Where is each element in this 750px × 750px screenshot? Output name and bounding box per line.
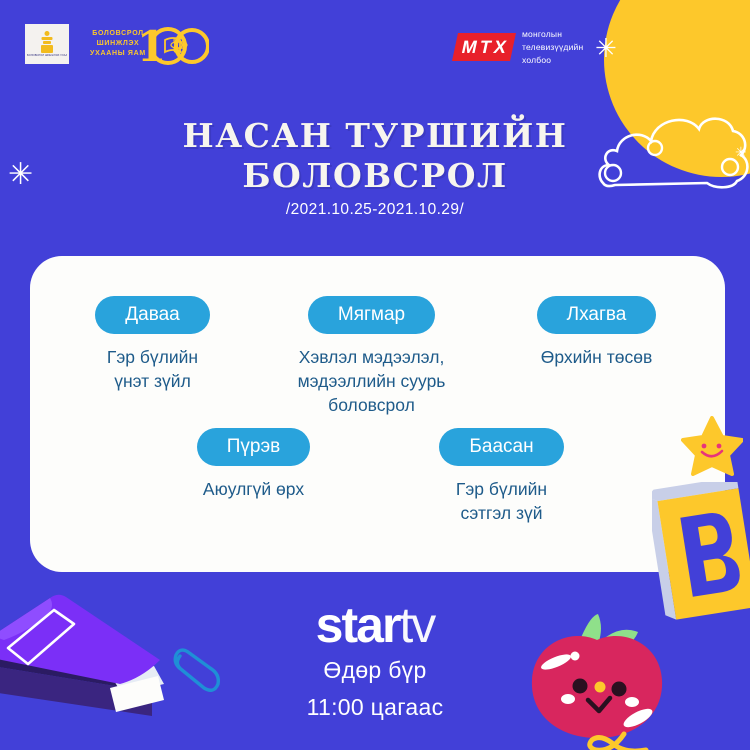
day-chip[interactable]: Пүрэв — [197, 428, 311, 466]
day-chip[interactable]: Баасан — [439, 428, 563, 466]
title-date-range: /2021.10.25-2021.10.29/ — [0, 201, 750, 219]
ministry-emblem-icon: БОЛОВСРОЛ ШИНЖЛЭХ УХААНЫ — [25, 24, 69, 64]
mtx-letter-x: Х — [492, 38, 508, 56]
emblem-caption: БОЛОВСРОЛ ШИНЖЛЭХ УХААНЫ — [27, 54, 67, 57]
footer-daily-label: Өдөр бүр — [0, 654, 750, 687]
schedule-card: Даваа Гэр бүлийнүнэт зүйл Мягмар Хэвлэл … — [30, 256, 725, 572]
smiling-star-icon — [681, 416, 743, 476]
poster-canvas: ✳ ✳ ✳ ✳ БОЛОВСРОЛ ШИНЖЛЭХ УХААНЫ БОЛОВСР… — [0, 0, 750, 750]
mtx-letter-t: Т — [478, 38, 493, 56]
schedule-item-friday[interactable]: Баасан Гэр бүлийнсэтгэл зүй — [378, 428, 626, 525]
day-topic: Гэр бүлийнсэтгэл зүй — [448, 477, 555, 525]
schedule-item-thursday[interactable]: Пүрэв Аюулгүй өрх — [130, 428, 378, 525]
footer: startv Өдөр бүр 11:00 цагаас — [0, 600, 750, 725]
mtx-letter-m: М — [460, 38, 479, 56]
schedule-item-wednesday[interactable]: Лхагва Өрхийн төсөв — [488, 296, 706, 417]
page-title: НАСАН ТУРШИЙН БОЛОВСРОЛ /2021.10.25-2021… — [0, 116, 750, 219]
mtx-name: монголын телевизүүдийн холбоо — [522, 28, 612, 66]
day-chip[interactable]: Даваа — [95, 296, 209, 334]
day-topic: Гэр бүлийнүнэт зүйл — [99, 345, 206, 393]
day-chip[interactable]: Лхагва — [537, 296, 657, 334]
schedule-row-1: Даваа Гэр бүлийнүнэт зүйл Мягмар Хэвлэл … — [30, 296, 725, 417]
schedule-item-monday[interactable]: Даваа Гэр бүлийнүнэт зүйл — [50, 296, 256, 417]
day-chip[interactable]: Мягмар — [308, 296, 435, 334]
day-topic: Аюулгүй өрх — [195, 477, 312, 501]
startv-logo-star: star — [316, 597, 400, 653]
schedule-item-tuesday[interactable]: Мягмар Хэвлэл мэдээлэл,мэдээллийн суурьб… — [256, 296, 488, 417]
startv-logo: startv — [0, 600, 750, 650]
title-line-2: БОЛОВСРОЛ — [0, 156, 750, 196]
soyombo-icon — [39, 31, 55, 53]
startv-logo-tv: tv — [399, 597, 434, 653]
day-topic: Хэвлэл мэдээлэл,мэдээллийн суурьболовсро… — [290, 345, 454, 417]
mtx-logo-group: М Т Х монголын телевизүүдийн холбоо — [455, 28, 612, 66]
footer-time-label: 11:00 цагаас — [0, 691, 750, 724]
title-line-1: НАСАН ТУРШИЙН — [0, 116, 750, 156]
schedule-row-2: Пүрэв Аюулгүй өрх Баасан Гэр бүлийнсэтгэ… — [30, 428, 725, 525]
day-topic: Өрхийн төсөв — [533, 345, 661, 369]
mtx-mark-icon: М Т Х — [452, 33, 516, 61]
anniversary-100-icon: 1 — [137, 24, 209, 68]
